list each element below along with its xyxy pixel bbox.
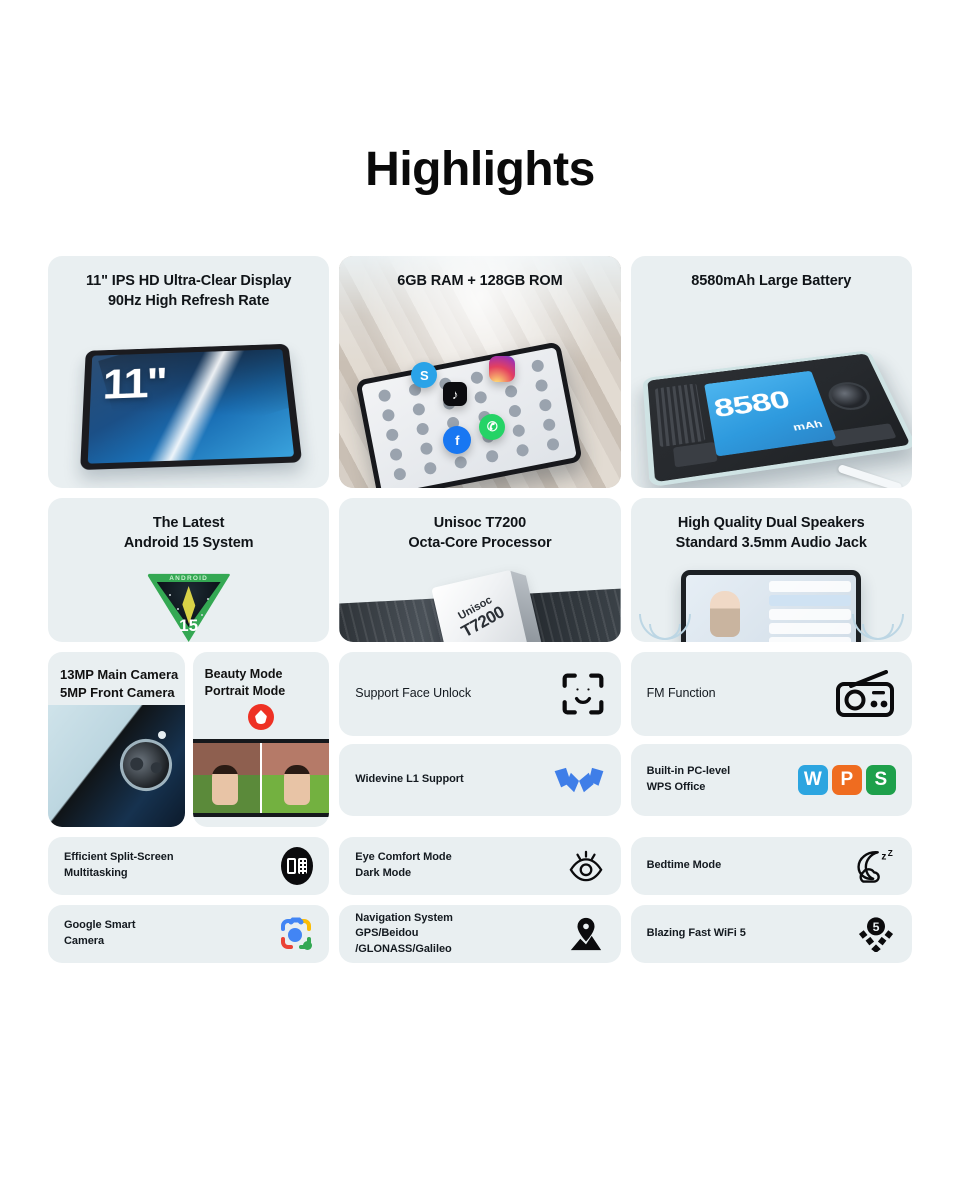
- card-battery-title: 8580mAh Large Battery: [631, 272, 912, 292]
- col-3: 8580mAh Large Battery 8580 mAh: [631, 256, 912, 488]
- eye-icon: [567, 849, 605, 883]
- battery-cell: 8580 mAh: [703, 371, 836, 457]
- wifi-label: Blazing Fast WiFi 5: [647, 926, 746, 942]
- card-android-line2: Android 15 System: [56, 534, 321, 554]
- bedtime-label: Bedtime Mode: [647, 858, 722, 874]
- card-camera-title: 13MP Main Camera 5MP Front Camera: [48, 666, 185, 701]
- card-android-title: The Latest Android 15 System: [48, 514, 329, 553]
- instagram-icon: [489, 356, 515, 382]
- highlights-page: Highlights 11" IPS HD Ultra-Clear Displa…: [0, 0, 960, 1200]
- card-wps: Built-in PC-level WPS Office W P S: [631, 744, 912, 816]
- col-3: Blazing Fast WiFi 5 5: [631, 905, 912, 963]
- card-display-line1: 11" IPS HD Ultra-Clear Display: [56, 272, 321, 292]
- android-wordmark: ANDROID: [147, 575, 231, 582]
- tiktok-icon: ♪: [443, 382, 467, 406]
- facebook-icon: f: [443, 426, 471, 454]
- widevine-label: Widevine L1 Support: [355, 772, 463, 788]
- card-bedtime: Bedtime Mode z Z: [631, 837, 912, 895]
- battery-capacity: 8580: [711, 386, 792, 424]
- card-beauty-line2: Portrait Mode: [205, 683, 330, 700]
- google-camera-label: Google Smart Camera: [64, 918, 136, 949]
- battery-teardown-image: 8580 mAh: [642, 350, 912, 487]
- android-art: ANDROID 15: [48, 560, 329, 642]
- charging-cable: [837, 464, 902, 488]
- beauty-comparison-photo: [193, 739, 330, 817]
- highlights-grid: 11" IPS HD Ultra-Clear Display 90Hz High…: [48, 256, 912, 973]
- card-audio-line2: Standard 3.5mm Audio Jack: [639, 534, 904, 554]
- col-2: Support Face Unlock Widevine L1 Support: [339, 652, 620, 827]
- row-1: 11" IPS HD Ultra-Clear Display 90Hz High…: [48, 256, 912, 488]
- wifi-standard-number: 5: [872, 920, 879, 934]
- google-lens-icon: [279, 917, 313, 951]
- camera-photo: [48, 705, 185, 827]
- col-3: Bedtime Mode z Z: [631, 837, 912, 895]
- card-display: 11" IPS HD Ultra-Clear Display 90Hz High…: [48, 256, 329, 488]
- card-split-screen: Efficient Split-Screen Multitasking: [48, 837, 329, 895]
- page-title: Highlights: [0, 142, 960, 197]
- card-cpu: Unisoc T7200 Octa-Core Processor Unisoc …: [339, 498, 620, 642]
- row-3: 13MP Main Camera 5MP Front Camera Beauty…: [48, 652, 912, 827]
- col-1: 11" IPS HD Ultra-Clear Display 90Hz High…: [48, 256, 329, 488]
- card-camera: 13MP Main Camera 5MP Front Camera: [48, 652, 185, 827]
- card-widevine: Widevine L1 Support: [339, 744, 620, 816]
- face-unlock-label: Support Face Unlock: [355, 685, 471, 703]
- unisoc-chip-image: Unisoc T7200: [431, 570, 528, 642]
- card-display-line2: 90Hz High Refresh Rate: [56, 292, 321, 312]
- widevine-icon: [553, 765, 605, 795]
- android-15-badge: ANDROID 15: [147, 568, 231, 642]
- col-2: Eye Comfort Mode Dark Mode: [339, 837, 620, 895]
- col-1: Google Smart Camera: [48, 905, 329, 963]
- eye-comfort-label: Eye Comfort Mode Dark Mode: [355, 850, 451, 881]
- row-4: Efficient Split-Screen Multitasking Eye …: [48, 837, 912, 895]
- camera-lens: [110, 729, 181, 800]
- battery-art: 8580 mAh: [631, 314, 912, 488]
- card-beauty: Beauty Mode Portrait Mode: [193, 652, 330, 827]
- battery-ribs: [655, 383, 706, 447]
- split-screen-label: Efficient Split-Screen Multitasking: [64, 850, 174, 881]
- col-2: 6GB RAM + 128GB ROM S: [339, 256, 620, 488]
- col-3: High Quality Dual Speakers Standard 3.5m…: [631, 498, 912, 642]
- navigation-label: Navigation System GPS/Beidou /GLONASS/Ga…: [355, 911, 453, 958]
- wifi-5-icon: 5: [856, 916, 896, 952]
- card-camera-line1: 13MP Main Camera: [60, 666, 185, 684]
- display-art: 11": [48, 314, 329, 488]
- android-version: 15: [147, 616, 231, 636]
- face-unlock-icon: [561, 672, 605, 716]
- card-android: The Latest Android 15 System ANDRO: [48, 498, 329, 642]
- wps-writer-icon: W: [798, 765, 828, 795]
- wps-label: Built-in PC-level WPS Office: [647, 764, 731, 795]
- card-fm: FM Function: [631, 652, 912, 736]
- tablet-image: 11": [80, 336, 296, 471]
- col-1: 13MP Main Camera 5MP Front Camera Beauty…: [48, 652, 329, 827]
- beauty-mode-icon: [248, 704, 274, 730]
- map-pin-icon: [567, 916, 605, 952]
- fm-label: FM Function: [647, 685, 716, 703]
- row-5: Google Smart Camera: [48, 905, 912, 963]
- screen-glare: [87, 349, 294, 464]
- col-1: The Latest Android 15 System ANDRO: [48, 498, 329, 642]
- card-google-camera: Google Smart Camera: [48, 905, 329, 963]
- card-memory: 6GB RAM + 128GB ROM S: [339, 256, 620, 488]
- card-memory-title: 6GB RAM + 128GB ROM: [339, 272, 620, 292]
- battery-unit: mAh: [791, 418, 823, 433]
- card-cpu-line1: Unisoc T7200: [347, 514, 612, 534]
- col-1: Efficient Split-Screen Multitasking: [48, 837, 329, 895]
- card-wifi: Blazing Fast WiFi 5 5: [631, 905, 912, 963]
- card-audio: High Quality Dual Speakers Standard 3.5m…: [631, 498, 912, 642]
- camera-flash: [158, 731, 166, 739]
- whatsapp-icon: ✆: [479, 414, 505, 440]
- svg-text:Z: Z: [888, 849, 893, 858]
- svg-text:z: z: [881, 852, 886, 863]
- tablet-apps-image: [356, 341, 583, 488]
- col-3: FM Function Built-in PC-level WPS: [631, 652, 912, 827]
- memory-art: S ♪ f ✆: [339, 314, 620, 488]
- radio-icon: [834, 670, 896, 718]
- card-cpu-title: Unisoc T7200 Octa-Core Processor: [339, 514, 620, 553]
- bedtime-moon-icon: z Z: [854, 848, 896, 884]
- card-audio-line1: High Quality Dual Speakers: [639, 514, 904, 534]
- card-navigation: Navigation System GPS/Beidou /GLONASS/Ga…: [339, 905, 620, 963]
- card-audio-title: High Quality Dual Speakers Standard 3.5m…: [631, 514, 912, 553]
- card-android-line1: The Latest: [56, 514, 321, 534]
- card-battery: 8580mAh Large Battery 8580 mAh: [631, 256, 912, 488]
- wps-spreadsheet-icon: S: [866, 765, 896, 795]
- card-face-unlock: Support Face Unlock: [339, 652, 620, 736]
- split-screen-icon: [281, 847, 313, 885]
- card-camera-line2: 5MP Front Camera: [60, 684, 185, 702]
- cpu-art: Unisoc T7200: [339, 560, 620, 642]
- skype-icon: S: [411, 362, 437, 388]
- battery-chip-a: [673, 442, 717, 468]
- audio-art: [631, 560, 912, 642]
- battery-camera-module: [824, 380, 875, 413]
- col-2: Unisoc T7200 Octa-Core Processor Unisoc …: [339, 498, 620, 642]
- wps-presentation-icon: P: [832, 765, 862, 795]
- battery-chip-b: [828, 423, 896, 446]
- card-beauty-line1: Beauty Mode: [205, 666, 330, 683]
- card-cpu-line2: Octa-Core Processor: [347, 534, 612, 554]
- col-2: Navigation System GPS/Beidou /GLONASS/Ga…: [339, 905, 620, 963]
- card-display-title: 11" IPS HD Ultra-Clear Display 90Hz High…: [48, 272, 329, 311]
- card-eye-comfort: Eye Comfort Mode Dark Mode: [339, 837, 620, 895]
- speaker-tablet-image: [681, 570, 861, 642]
- row-2: The Latest Android 15 System ANDRO: [48, 498, 912, 642]
- wps-office-icon: W P S: [798, 765, 896, 795]
- card-beauty-title: Beauty Mode Portrait Mode: [193, 666, 330, 700]
